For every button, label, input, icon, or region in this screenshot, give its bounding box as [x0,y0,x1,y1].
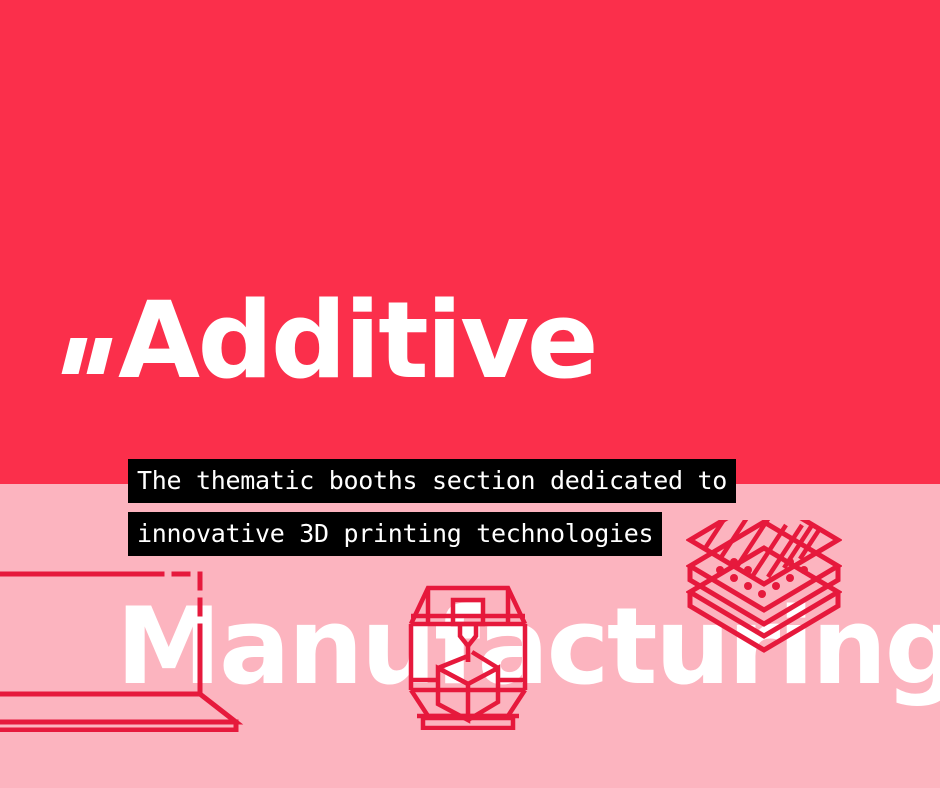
subtitle: The thematic booths section dedicated to… [128,459,736,556]
headline-word-additive: Additive [118,279,596,402]
quote-open-icon [64,376,118,377]
page-title: Additive Manufacturing Area [64,86,914,788]
headline-line-1: Additive [64,290,914,392]
subtitle-line-2: innovative 3D printing technologies [128,512,662,556]
headline-line-2: Manufacturing [64,596,914,698]
subtitle-line-1: The thematic booths section dedicated to [128,459,736,503]
poster-canvas: Additive Manufacturing Area The thematic… [0,0,940,788]
headline-word-manufacturing: Manufacturing [116,585,940,708]
